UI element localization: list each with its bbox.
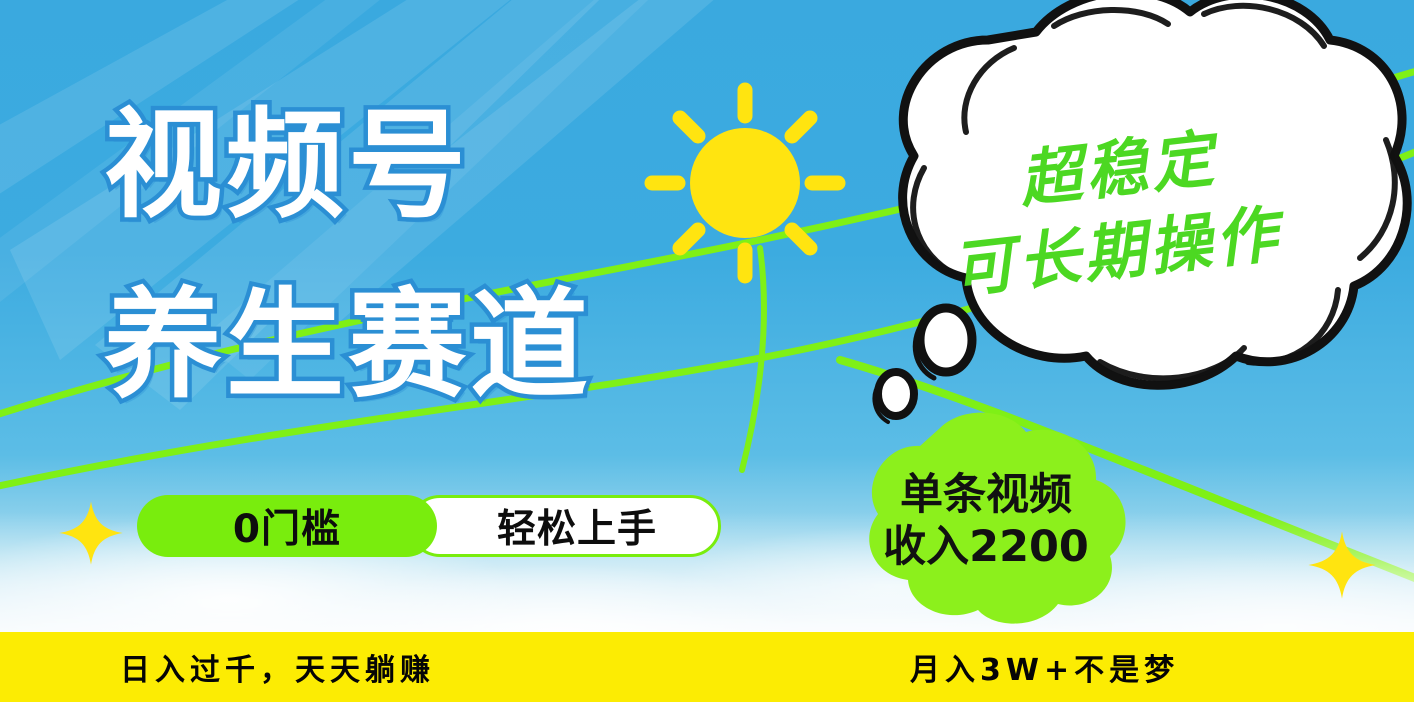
promo-banner: 视频号 养生赛道 0门槛 轻松上手 [0,0,1414,702]
thought-bubble-dot-icon [915,308,972,378]
footer-text-right: 月入3W+不是梦 [910,645,1179,689]
earnings-blob-icon [836,412,1136,630]
pill-zero-threshold[interactable]: 0门槛 [137,495,437,557]
headline-line-2: 养生赛道 [104,276,784,414]
pill-easy-start[interactable]: 轻松上手 [409,495,721,557]
thought-cloud-icon [838,0,1414,430]
footer-text-left: 日入过千，天天躺赚 [120,645,435,689]
headline-line-1: 视频号 [104,96,784,234]
thought-cloud-callout: 超稳定 可长期操作 [838,0,1414,430]
headline: 视频号 养生赛道 [104,96,784,414]
footer-bar: 日入过千，天天躺赚 月入3W+不是梦 [0,632,1414,702]
feature-pills: 0门槛 轻松上手 [137,495,721,557]
earnings-blob-callout: 单条视频 收入2200 [836,412,1136,630]
